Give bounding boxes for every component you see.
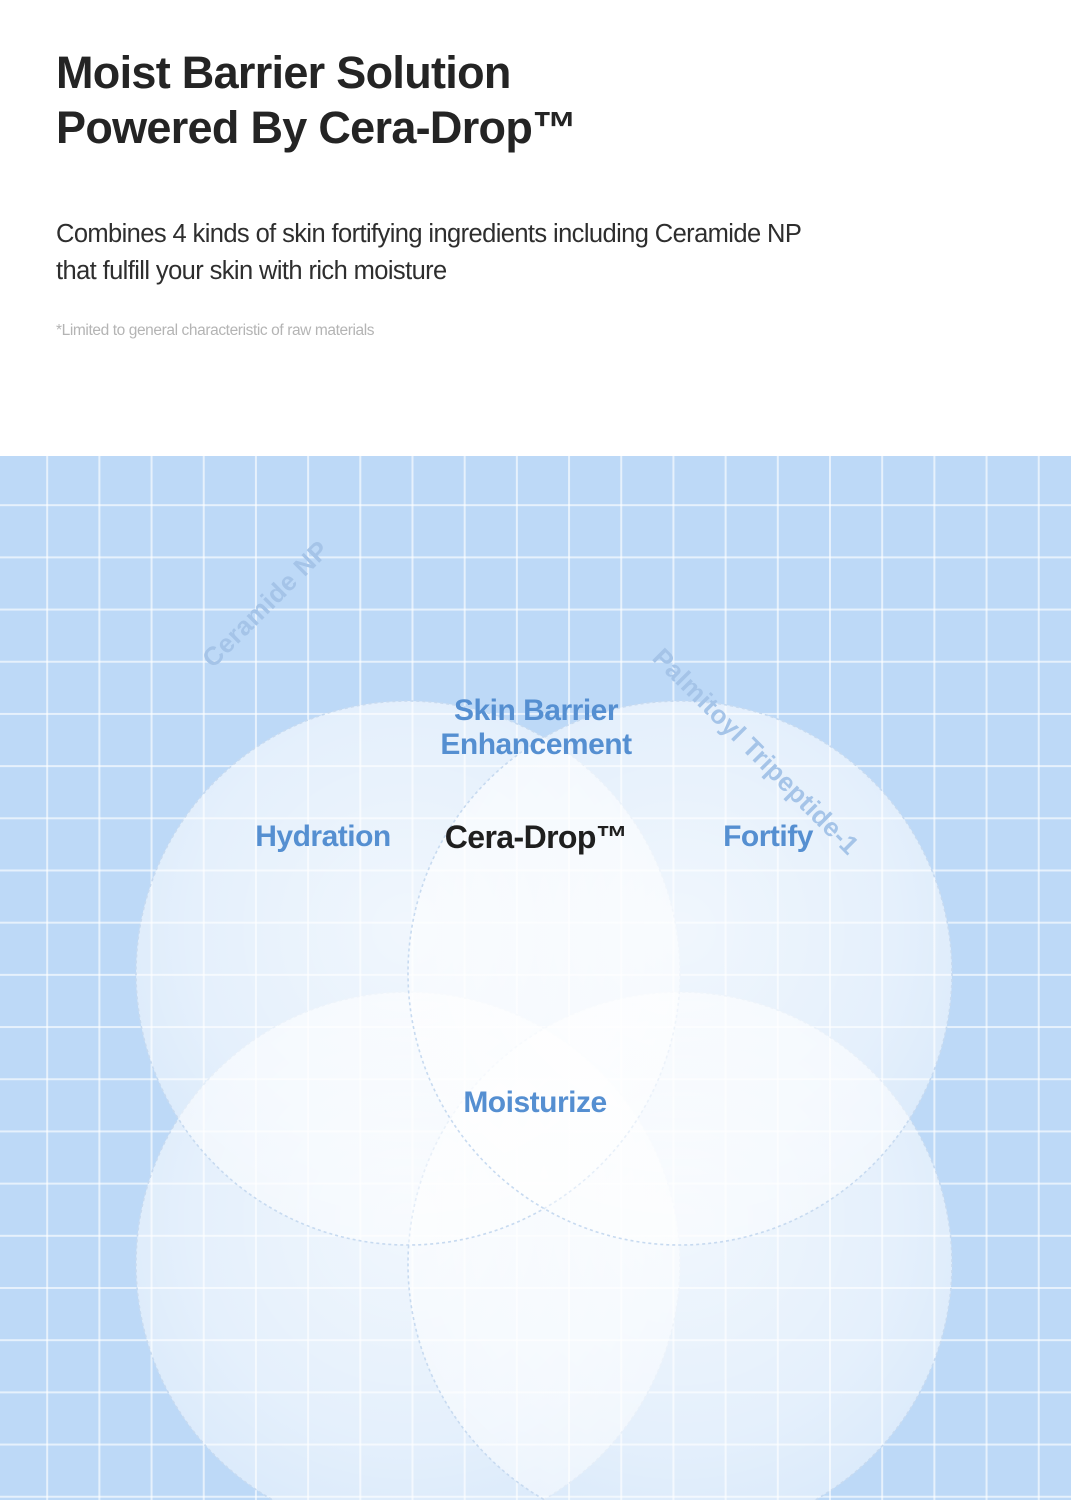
- venn-circles-graphic: [0, 456, 1071, 1500]
- venn-diagram-panel: Skin Barrier Enhancement Hydration Forti…: [0, 456, 1071, 1500]
- page-title: Moist Barrier Solution Powered By Cera-D…: [56, 46, 1015, 156]
- page-subtitle: Combines 4 kinds of skin fortifying ingr…: [56, 156, 1015, 289]
- page-footnote: *Limited to general characteristic of ra…: [56, 289, 1015, 340]
- header-section: Moist Barrier Solution Powered By Cera-D…: [0, 0, 1071, 456]
- center-label-cera-drop: Cera-Drop™: [405, 741, 667, 933]
- benefit-label-moisturize: Moisturize: [375, 1086, 695, 1120]
